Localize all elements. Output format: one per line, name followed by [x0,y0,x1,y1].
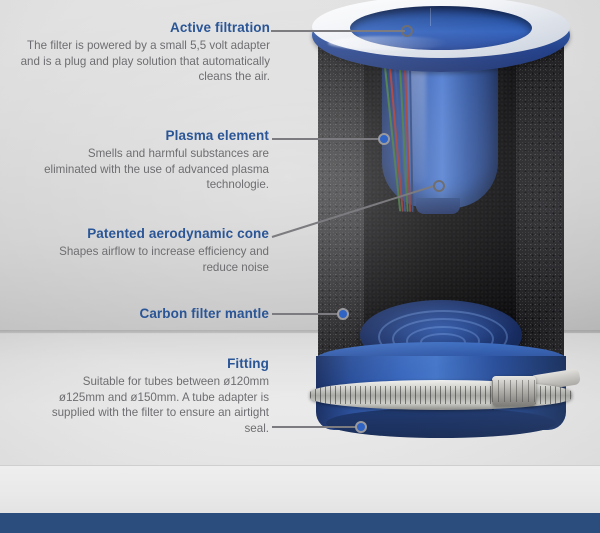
spec-footer: Product life: 5 year, (2 year warranty) … [0,465,600,518]
callout-aerodynamic-cone: Patented aerodynamic cone Shapes airflow… [52,226,269,275]
callout-body-plasma-element: Smells and harmful substances are elimin… [44,146,269,193]
callout-title-active-filtration: Active filtration [20,20,270,35]
callout-body-fitting: Suitable for tubes between ø120mm ø125mm… [42,374,269,436]
leader-dot-carbon-filter-mantle [337,308,349,320]
callout-title-fitting: Fitting [42,356,269,371]
leader-line-active-filtration-2 [365,30,405,32]
callout-carbon-filter-mantle: Carbon filter mantle [60,306,269,324]
callout-plasma-element: Plasma element Smells and harmful substa… [44,128,269,193]
infographic-canvas: Active filtration The filter is powered … [0,0,600,533]
leader-dot-aerodynamic-cone [433,180,445,192]
leader-dot-fitting [355,421,367,433]
callout-title-carbon-filter-mantle: Carbon filter mantle [60,306,269,321]
callout-title-plasma-element: Plasma element [44,128,269,143]
leader-line-carbon-filter-mantle [272,313,340,315]
leader-line-plasma-element [272,138,380,140]
callout-fitting: Fitting Suitable for tubes between ø120m… [42,356,269,436]
footer-accent-bar [0,513,600,533]
callout-body-active-filtration: The filter is powered by a small 5,5 vol… [20,38,270,85]
leader-dot-plasma-element [378,133,390,145]
callout-active-filtration: Active filtration The filter is powered … [20,20,270,85]
callout-title-aerodynamic-cone: Patented aerodynamic cone [52,226,269,241]
leader-line-active-filtration [271,30,369,32]
callout-body-aerodynamic-cone: Shapes airflow to increase efficiency an… [52,244,269,275]
leader-line-fitting [272,426,358,428]
